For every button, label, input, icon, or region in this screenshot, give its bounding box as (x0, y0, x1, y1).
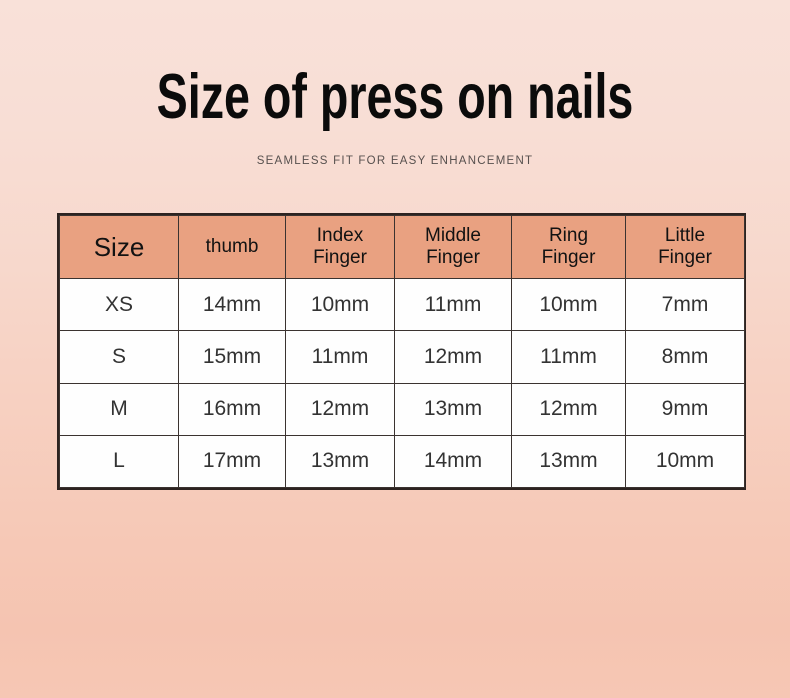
cell-middle: 14mm (395, 435, 512, 487)
index-finger-line2: Finger (286, 247, 394, 269)
little-finger-line1: Little (665, 225, 705, 246)
middle-finger-line2: Finger (395, 247, 511, 269)
cell-ring: 12mm (512, 383, 626, 435)
table-row: M 16mm 12mm 13mm 12mm 9mm (60, 383, 745, 435)
table-body: XS 14mm 10mm 11mm 10mm 7mm S 15mm 11mm 1… (60, 279, 745, 488)
cell-size: XS (60, 279, 179, 331)
column-header-middle-finger: Middle Finger (395, 216, 512, 279)
column-header-size-label: Size (60, 233, 178, 262)
cell-size: M (60, 383, 179, 435)
cell-middle: 12mm (395, 331, 512, 383)
column-header-size: Size (60, 216, 179, 279)
cell-little: 9mm (626, 383, 745, 435)
column-header-little-finger: Little Finger (626, 216, 745, 279)
cell-little: 7mm (626, 279, 745, 331)
column-header-ring-finger: Ring Finger (512, 216, 626, 279)
column-header-ring-finger-label: Ring Finger (512, 225, 625, 269)
table-row: XS 14mm 10mm 11mm 10mm 7mm (60, 279, 745, 331)
column-header-index-finger-label: Index Finger (286, 225, 394, 269)
cell-size: S (60, 331, 179, 383)
column-header-middle-finger-label: Middle Finger (395, 225, 511, 269)
cell-ring: 11mm (512, 331, 626, 383)
ring-finger-line2: Finger (512, 247, 625, 269)
page-subtitle: SEAMLESS FIT FOR EASY ENHANCEMENT (0, 129, 790, 167)
column-header-thumb: thumb (179, 216, 286, 279)
ring-finger-line1: Ring (549, 225, 588, 246)
cell-little: 8mm (626, 331, 745, 383)
cell-thumb: 17mm (179, 435, 286, 487)
cell-middle: 11mm (395, 279, 512, 331)
column-header-index-finger: Index Finger (286, 216, 395, 279)
table-header: Size thumb Index Finger Middle Finger (60, 216, 745, 279)
cell-little: 10mm (626, 435, 745, 487)
page-title: Size of press on nails (103, 0, 688, 129)
cell-size: L (60, 435, 179, 487)
cell-thumb: 16mm (179, 383, 286, 435)
cell-index: 10mm (286, 279, 395, 331)
table-header-row: Size thumb Index Finger Middle Finger (60, 216, 745, 279)
cell-index: 12mm (286, 383, 395, 435)
column-header-thumb-label: thumb (179, 236, 285, 258)
heading-block: Size of press on nails SEAMLESS FIT FOR … (0, 0, 790, 167)
size-chart-table-container: Size thumb Index Finger Middle Finger (57, 213, 746, 490)
cell-index: 13mm (286, 435, 395, 487)
cell-ring: 10mm (512, 279, 626, 331)
cell-thumb: 15mm (179, 331, 286, 383)
little-finger-line2: Finger (626, 247, 744, 269)
size-chart-table: Size thumb Index Finger Middle Finger (59, 215, 745, 488)
column-header-little-finger-label: Little Finger (626, 225, 744, 269)
cell-index: 11mm (286, 331, 395, 383)
table-row: L 17mm 13mm 14mm 13mm 10mm (60, 435, 745, 487)
middle-finger-line1: Middle (425, 225, 481, 246)
table-row: S 15mm 11mm 12mm 11mm 8mm (60, 331, 745, 383)
cell-ring: 13mm (512, 435, 626, 487)
index-finger-line1: Index (317, 225, 363, 246)
cell-thumb: 14mm (179, 279, 286, 331)
cell-middle: 13mm (395, 383, 512, 435)
